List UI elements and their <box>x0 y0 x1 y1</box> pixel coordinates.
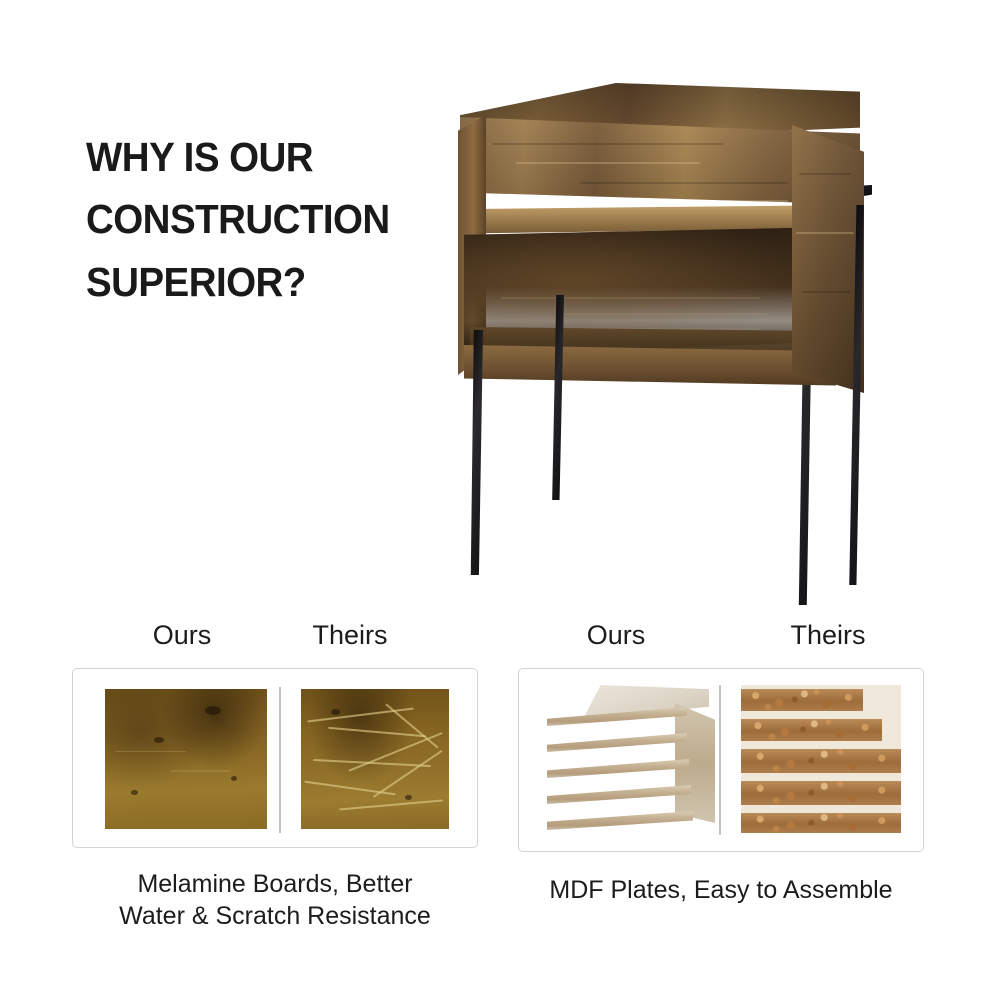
page-title: WHY IS OUR CONSTRUCTION SUPERIOR? <box>86 126 443 313</box>
caption-surface-line-1: Melamine Boards, Better <box>75 868 475 900</box>
headline-line-1: WHY IS OUR <box>86 126 443 188</box>
swatch-melamine-ours <box>105 689 267 829</box>
caption-surface-line-2: Water & Scratch Resistance <box>75 900 475 932</box>
material-comparison-divider <box>719 685 721 835</box>
caption-material-line-1: MDF Plates, Easy to Assemble <box>521 874 921 906</box>
headline-line-3: SUPERIOR? <box>86 251 443 313</box>
caption-surface: Melamine Boards, Better Water & Scratch … <box>75 868 475 932</box>
swatch-melamine-theirs <box>301 689 449 829</box>
product-photo <box>440 55 930 600</box>
label-ours-material: Ours <box>566 620 666 651</box>
swatch-mdf-ours <box>547 685 715 833</box>
nightstand-bottom-rail <box>464 345 836 389</box>
surface-comparison-divider <box>279 687 281 833</box>
swatch-particleboard-theirs <box>741 685 901 833</box>
caption-material: MDF Plates, Easy to Assemble <box>521 874 921 906</box>
surface-comparison-card <box>72 668 478 848</box>
label-ours-surface: Ours <box>132 620 232 651</box>
material-comparison-card <box>518 668 924 852</box>
label-theirs-material: Theirs <box>768 620 888 651</box>
nightstand-right-panel <box>792 125 864 393</box>
label-theirs-surface: Theirs <box>290 620 410 651</box>
headline-line-2: CONSTRUCTION <box>86 188 443 250</box>
